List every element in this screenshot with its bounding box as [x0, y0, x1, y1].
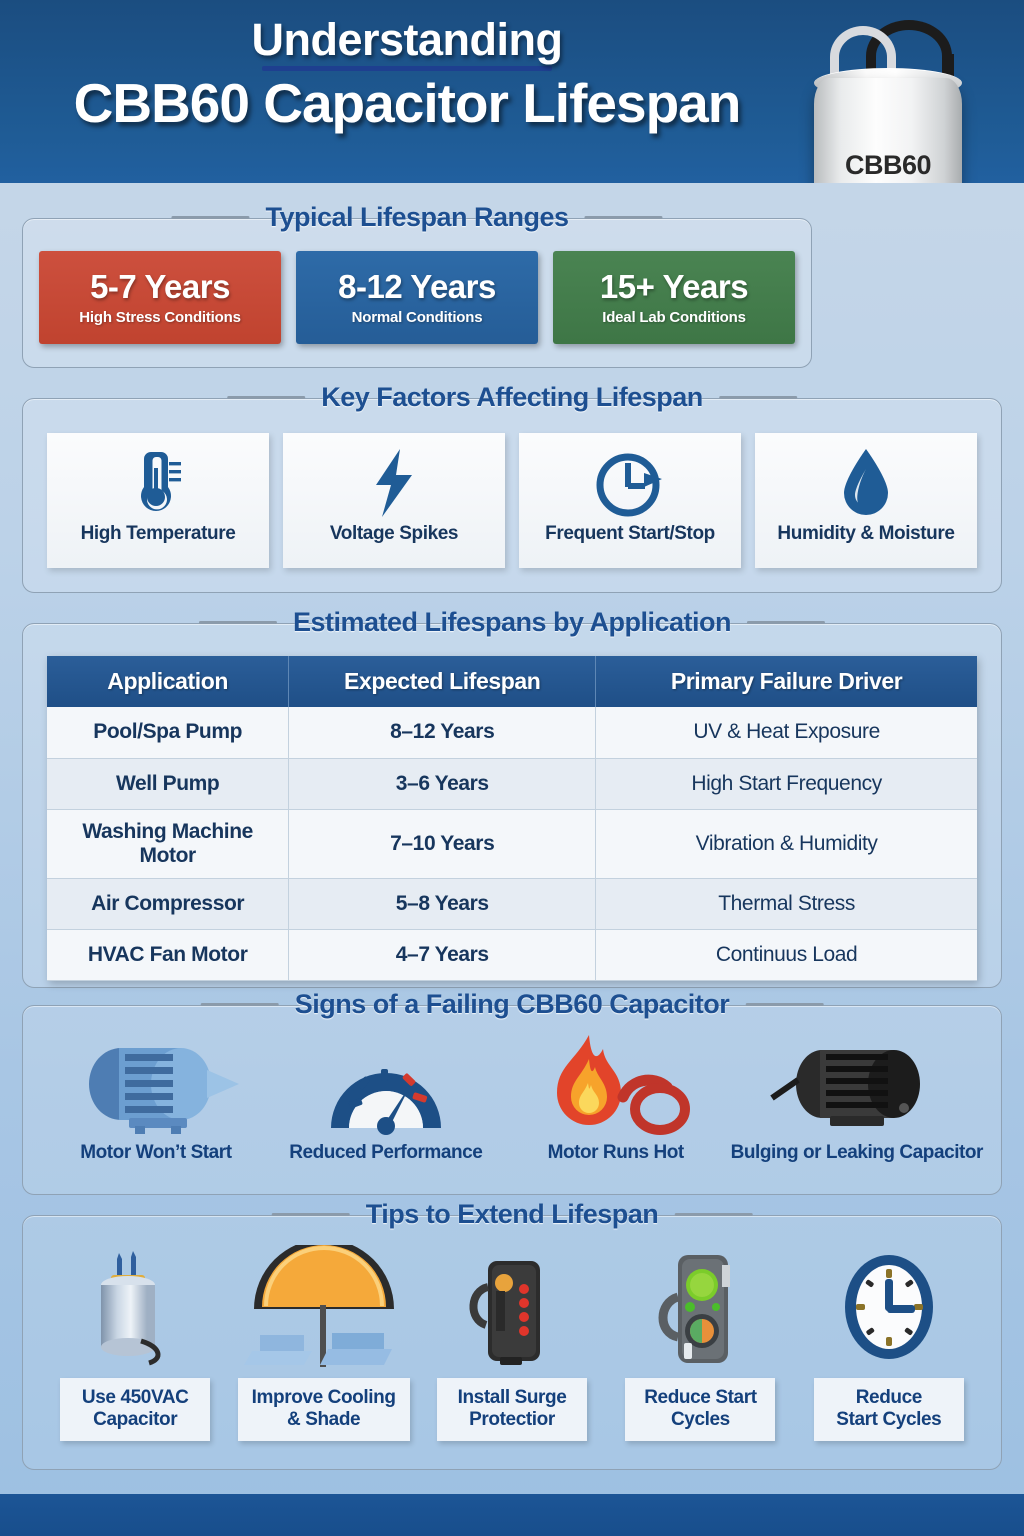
clock-cycle-icon [594, 447, 666, 519]
cell-application: HVAC Fan Motor [47, 929, 289, 980]
range-condition: Ideal Lab Conditions [602, 309, 746, 326]
cell-lifespan: 3–6 Years [289, 758, 596, 809]
umbrella-shade-icon [236, 1242, 411, 1370]
sign-card-row: Motor Won’t Start [41, 1030, 983, 1164]
section-key-factors: Key Factors Affecting Lifespan High Temp… [22, 398, 1002, 593]
sign-label: Motor Won’t Start [80, 1142, 231, 1164]
capacitor-illustration: CBB60 40µF +5% 450VAC 50/6Hz 70‰ 60°C SH [796, 10, 996, 183]
clock-icon [829, 1242, 949, 1370]
factor-card-high-temperature: High Temperature [47, 433, 269, 568]
section-title-text: Signs of a Failing CBB60 Capacitor [291, 989, 734, 1020]
cell-failure-driver: UV & Heat Exposure [596, 707, 977, 758]
sign-label: Motor Runs Hot [548, 1142, 684, 1164]
table-row: HVAC Fan Motor 4–7 Years Continuus Load [47, 929, 977, 980]
table-row: Air Compressor 5–8 Years Thermal Stress [47, 878, 977, 929]
page-title-overline: Understanding [0, 16, 814, 63]
water-droplet-icon [838, 447, 894, 519]
cell-application: Washing Machine Motor [47, 809, 289, 878]
lifespan-table: Application Expected Lifespan Primary Fa… [47, 656, 977, 981]
sign-card-motor-runs-hot: Motor Runs Hot [501, 1030, 731, 1164]
factor-label: High Temperature [81, 523, 236, 545]
sign-label: Reduced Performance [289, 1142, 482, 1164]
gauge-icon [321, 1030, 451, 1136]
factor-label: Humidity & Moisture [777, 523, 954, 545]
tip-card-reduce-start-cycles-clock: Reduce Start Cycles [795, 1242, 983, 1441]
header-title-group: Understanding CBB60 Capacitor Lifespan [0, 16, 814, 134]
table-row: Pool/Spa Pump 8–12 Years UV & Heat Expos… [47, 707, 977, 758]
tip-label: Reduce Start Cycles [625, 1378, 775, 1441]
lightning-bolt-icon [368, 447, 420, 519]
section-header: Key Factors Affecting Lifespan [227, 382, 797, 413]
section-title-text: Typical Lifespan Ranges [261, 202, 572, 233]
capacitor-icon [75, 1242, 195, 1370]
tip-card-use-450vac-capacitor: Use 450VAC Capacitor [41, 1242, 229, 1441]
range-value: 5-7 Years [90, 269, 230, 305]
table-row: Washing Machine Motor 7–10 Years Vibrati… [47, 809, 977, 878]
factor-label: Voltage Spikes [330, 523, 458, 545]
header-banner: Understanding CBB60 Capacitor Lifespan C… [0, 0, 1024, 183]
cell-failure-driver: Continuus Load [596, 929, 977, 980]
range-condition: Normal Conditions [352, 309, 483, 326]
page-title: CBB60 Capacitor Lifespan [0, 73, 814, 134]
section-failure-signs: Signs of a Failing CBB60 Capacitor [22, 1005, 1002, 1195]
tip-label: Improve Cooling & Shade [238, 1378, 410, 1441]
column-header-lifespan: Expected Lifespan [289, 656, 596, 707]
table-header-row: Application Expected Lifespan Primary Fa… [47, 656, 977, 707]
section-header: Estimated Lifespans by Application [199, 607, 825, 638]
controller-icon [640, 1242, 760, 1370]
title-rule-right [585, 216, 663, 219]
tip-label: Use 450VAC Capacitor [60, 1378, 210, 1441]
tip-label: Reduce Start Cycles [814, 1378, 964, 1441]
cell-failure-driver: High Start Frequency [596, 758, 977, 809]
cell-lifespan: 8–12 Years [289, 707, 596, 758]
sign-card-reduced-performance: Reduced Performance [271, 1030, 501, 1164]
cell-application: Air Compressor [47, 878, 289, 929]
tip-card-install-surge-protector: Install Surge Protectior [418, 1242, 606, 1441]
cell-application: Pool/Spa Pump [47, 707, 289, 758]
column-header-application: Application [47, 656, 289, 707]
factor-card-voltage-spikes: Voltage Spikes [283, 433, 505, 568]
range-card-high-stress: 5-7 Years High Stress Conditions [39, 251, 281, 344]
title-rule-left [199, 621, 277, 624]
column-header-failure-driver: Primary Failure Driver [596, 656, 977, 707]
thermometer-icon [129, 447, 187, 519]
title-rule-left [201, 1003, 279, 1006]
section-tips-to-extend-lifespan: Tips to Extend Lifespan [22, 1215, 1002, 1470]
title-rule-left [171, 216, 249, 219]
range-value: 15+ Years [600, 269, 748, 305]
table-row: Well Pump 3–6 Years High Start Frequency [47, 758, 977, 809]
title-divider [262, 66, 552, 71]
range-card-ideal-lab: 15+ Years Ideal Lab Conditions [553, 251, 795, 344]
tip-card-reduce-start-cycles-controller: Reduce Start Cycles [606, 1242, 794, 1441]
tip-card-improve-cooling: Improve Cooling & Shade [229, 1242, 417, 1441]
title-rule-left [227, 396, 305, 399]
section-typical-lifespan-ranges: Typical Lifespan Ranges 5-7 Years High S… [22, 218, 812, 368]
section-header: Tips to Extend Lifespan [272, 1199, 753, 1230]
cell-lifespan: 5–8 Years [289, 878, 596, 929]
flame-icon [531, 1030, 701, 1136]
blue-motor-icon [61, 1030, 251, 1136]
section-header: Signs of a Failing CBB60 Capacitor [201, 989, 824, 1020]
cell-lifespan: 4–7 Years [289, 929, 596, 980]
section-lifespans-by-application: Estimated Lifespans by Application Appli… [22, 623, 1002, 988]
surge-protector-icon [452, 1242, 572, 1370]
range-card-normal: 8-12 Years Normal Conditions [296, 251, 538, 344]
sign-label: Bulging or Leaking Capacitor [731, 1142, 983, 1164]
section-header: Typical Lifespan Ranges [171, 202, 662, 233]
capacitor-value-text: 40µF +5% [814, 181, 962, 183]
cell-failure-driver: Vibration & Humidity [596, 809, 977, 878]
section-title-text: Estimated Lifespans by Application [289, 607, 735, 638]
section-title-text: Key Factors Affecting Lifespan [317, 382, 707, 413]
tip-card-row: Use 450VAC Capacitor Improve Cooling & S… [41, 1242, 983, 1441]
title-rule-right [747, 621, 825, 624]
bottom-accent-bar [0, 1494, 1024, 1536]
title-rule-left [272, 1213, 350, 1216]
black-motor-icon [764, 1030, 949, 1136]
range-value: 8-12 Years [338, 269, 496, 305]
cell-lifespan: 7–10 Years [289, 809, 596, 878]
capacitor-label-group: CBB60 40µF +5% 450VAC 50/6Hz 70‰ 60°C SH [814, 150, 962, 183]
title-rule-right [719, 396, 797, 399]
title-rule-right [674, 1213, 752, 1216]
tip-label: Install Surge Protectior [437, 1378, 587, 1441]
sign-card-motor-wont-start: Motor Won’t Start [41, 1030, 271, 1164]
cell-application: Well Pump [47, 758, 289, 809]
range-condition: High Stress Conditions [79, 309, 240, 326]
sign-card-bulging-leaking-capacitor: Bulging or Leaking Capacitor [731, 1030, 983, 1164]
range-card-row: 5-7 Years High Stress Conditions 8-12 Ye… [39, 251, 795, 344]
capacitor-model-text: CBB60 [814, 150, 962, 181]
factor-label: Frequent Start/Stop [545, 523, 715, 545]
title-rule-right [745, 1003, 823, 1006]
section-title-text: Tips to Extend Lifespan [362, 1199, 663, 1230]
factor-card-frequent-start-stop: Frequent Start/Stop [519, 433, 741, 568]
cell-failure-driver: Thermal Stress [596, 878, 977, 929]
factor-card-humidity-moisture: Humidity & Moisture [755, 433, 977, 568]
factor-card-row: High Temperature Voltage Spikes [47, 433, 977, 568]
